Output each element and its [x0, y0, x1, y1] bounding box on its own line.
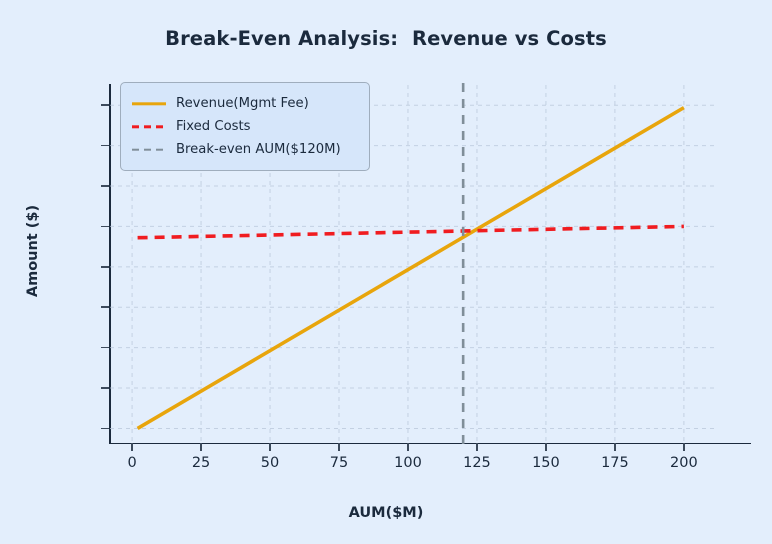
x-axis-title: AUM($M) [0, 505, 772, 521]
x-tick-label: 25 [192, 455, 210, 471]
legend-label-break-even: Break-even AUM($120M) [176, 142, 341, 157]
x-tick-label: 0 [127, 455, 136, 471]
y-tick-mark [101, 306, 109, 308]
chart-title: Break-Even Analysis: Revenue vs Costs [0, 27, 772, 50]
x-tick-label: 75 [330, 455, 348, 471]
legend-swatch-solid-line-icon [132, 97, 166, 111]
legend-item-revenue[interactable]: Revenue(Mgmt Fee) [132, 92, 357, 115]
x-tick-label: 150 [532, 455, 560, 471]
chart-legend[interactable]: Revenue(Mgmt Fee) Fixed Costs Break-even… [120, 82, 370, 171]
y-tick-mark [101, 387, 109, 389]
series-line [138, 226, 684, 237]
x-tick-label: 50 [261, 455, 279, 471]
x-tick-mark [407, 443, 409, 451]
y-tick-mark [101, 104, 109, 106]
y-tick-mark [101, 185, 109, 187]
legend-item-break-even[interactable]: Break-even AUM($120M) [132, 138, 357, 161]
x-tick-label: 125 [463, 455, 491, 471]
x-tick-mark [338, 443, 340, 451]
y-tick-mark [101, 145, 109, 147]
x-tick-label: 175 [601, 455, 629, 471]
x-tick-label: 200 [670, 455, 698, 471]
legend-label-revenue: Revenue(Mgmt Fee) [176, 96, 309, 111]
y-tick-mark [101, 226, 109, 228]
x-tick-label: 100 [394, 455, 422, 471]
legend-swatch-dashed-gray-line-icon [132, 143, 166, 157]
legend-label-fixed-costs: Fixed Costs [176, 119, 251, 134]
y-tick-mark [101, 266, 109, 268]
x-tick-mark [683, 443, 685, 451]
x-tick-mark [269, 443, 271, 451]
y-tick-mark [101, 347, 109, 349]
legend-swatch-dashed-red-line-icon [132, 120, 166, 134]
x-tick-mark [476, 443, 478, 451]
chart-figure: Break-Even Analysis: Revenue vs Costs Am… [0, 0, 772, 544]
x-tick-mark [200, 443, 202, 451]
x-tick-mark [131, 443, 133, 451]
y-axis-title: Amount ($) [25, 111, 41, 391]
x-tick-mark [614, 443, 616, 451]
y-tick-mark [101, 428, 109, 430]
x-tick-mark [545, 443, 547, 451]
legend-item-fixed-costs[interactable]: Fixed Costs [132, 115, 357, 138]
